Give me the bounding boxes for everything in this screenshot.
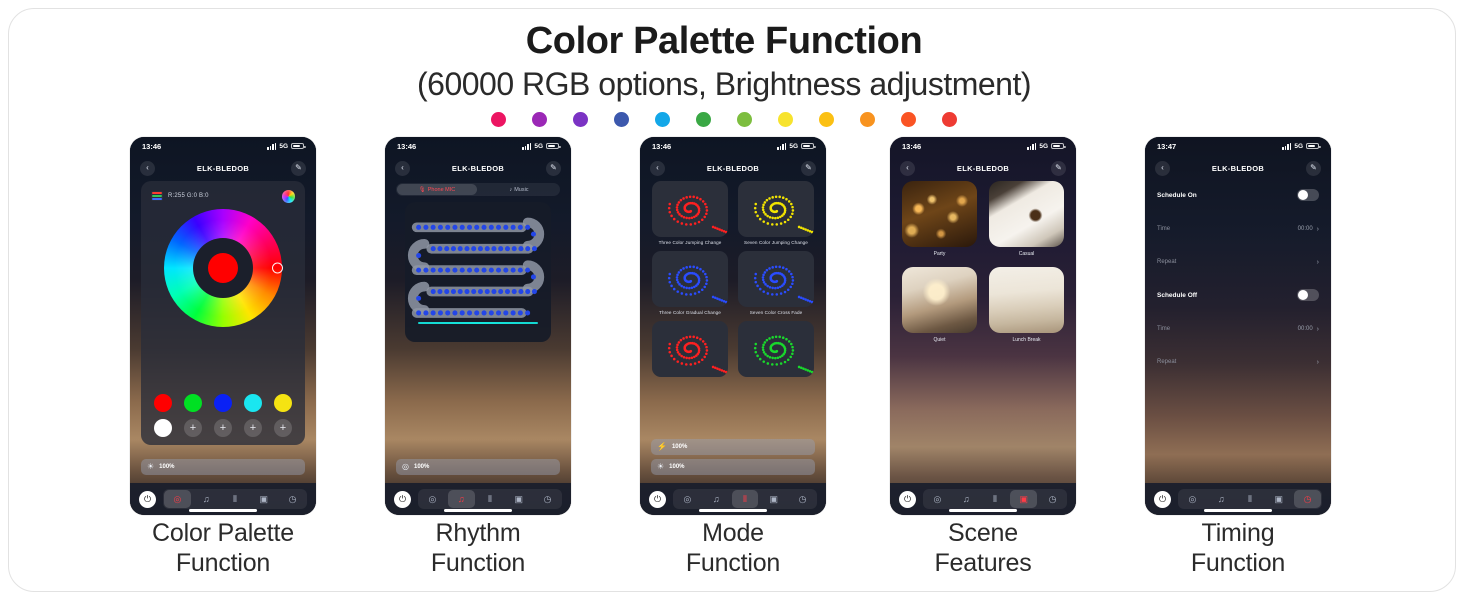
timing-row[interactable]: Schedule Off [1145,281,1331,309]
power-button[interactable]: ⏻ [139,491,156,508]
segment-phone-mic[interactable]: 🎙 Phone MIC [397,184,477,195]
row-label: Repeat [1157,359,1176,365]
phone-scene: 13:46 5G ‹ ELK-BLEDOB ✎ Party Casual Qui… [890,137,1076,515]
chevron-right-icon: › [1317,326,1319,333]
tab-palette[interactable]: ◎ [164,490,191,508]
phone-timing: 13:47 5G ‹ ELK-BLEDOB ✎ Schedule On Time… [1145,137,1331,515]
color-dot-7 [778,112,793,127]
tab-strip: ◎♫⦀▣◷ [418,489,562,509]
color-wheel-wrap [141,207,305,329]
color-dot-11 [942,112,957,127]
tab-music[interactable]: ♫ [193,490,220,508]
network-label: 5G [789,143,798,150]
mode-grid: Three Color Jumping Change Seven Color J… [652,181,814,380]
status-time: 13:46 [397,142,416,151]
mode-cell[interactable]: Three Color Jumping Change [652,181,728,245]
caption-line-1: Scene [868,518,1098,548]
color-dot-4 [655,112,670,127]
phone-screen: 13:46 5G ‹ ELK-BLEDOB ✎ R:255 G:0 B:0 [130,137,316,515]
led-strip-preview [405,202,551,342]
mode-thumbnail [738,321,814,377]
speed-slider[interactable]: ⚡ 100% [651,439,815,455]
caption-line-2: Function [1123,548,1353,578]
tab-timer[interactable]: ◷ [1294,490,1321,508]
page-root: Color Palette Function (60000 RGB option… [0,0,1464,600]
mode-cell[interactable]: Seven Color Jumping Change [738,181,814,245]
row-label: Repeat [1157,259,1176,265]
home-indicator [1204,509,1272,512]
color-dot-3 [614,112,629,127]
caption-line-2: Function [618,548,848,578]
back-button[interactable]: ‹ [900,161,915,176]
network-label: 5G [534,143,543,150]
tab-timer[interactable]: ◷ [534,490,561,508]
segment-music[interactable]: ♪ Music [479,184,559,195]
caption-line-2: Features [868,548,1098,578]
edit-button[interactable]: ✎ [1306,161,1321,176]
tab-timer[interactable]: ◷ [789,490,816,508]
caption-scene: Scene Features [868,518,1098,578]
spiral-icon-1 [738,181,814,237]
scene-cell[interactable]: Lunch Break [989,267,1064,343]
segment-icon: 🎙 [419,187,426,193]
battery-icon [801,143,814,150]
status-time: 13:46 [652,142,671,151]
caption-line-1: Mode [618,518,848,548]
battery-icon [1051,143,1064,150]
battery-icon [291,143,304,150]
mode-label: Seven Color Cross Fade [750,310,803,315]
brightness-icon: ☀ [147,463,154,471]
app-navbar: ‹ ELK-BLEDOB ✎ [385,157,571,179]
tab-mode[interactable]: ⦀ [1237,490,1264,508]
network-label: 5G [1039,143,1048,150]
preset-color-yellow[interactable] [274,394,292,412]
scene-cell[interactable]: Party [902,181,977,257]
tab-music[interactable]: ♫ [448,490,475,508]
color-dot-9 [860,112,875,127]
device-name: ELK-BLEDOB [452,164,504,173]
phone-screen: 13:46 5G ‹ ELK-BLEDOB ✎ 🎙 Phone MIC ♪ Mu… [385,137,571,515]
scene-grid: Party Casual Quiet Lunch Break [902,181,1064,343]
tab-music[interactable]: ♫ [703,490,730,508]
spiral-icon-4 [652,321,728,377]
scene-thumbnail [989,267,1064,333]
tab-mode[interactable]: ⦀ [732,490,759,508]
row-label: Schedule Off [1157,292,1197,299]
edit-button[interactable]: ✎ [1051,161,1066,176]
scene-label: Quiet [934,337,946,343]
phone-color-palette: 13:46 5G ‹ ELK-BLEDOB ✎ R:255 G:0 B:0 [130,137,316,515]
phone-screen: 13:46 5G ‹ ELK-BLEDOB ✎ Three Color Jump… [640,137,826,515]
signal-icon [267,143,276,150]
color-dot-10 [901,112,916,127]
home-indicator [949,509,1017,512]
tab-palette[interactable]: ◎ [1179,490,1206,508]
signal-icon [1282,143,1291,150]
device-name: ELK-BLEDOB [957,164,1009,173]
phone-screen: 13:47 5G ‹ ELK-BLEDOB ✎ Schedule On Time… [1145,137,1331,515]
phone-rhythm: 13:46 5G ‹ ELK-BLEDOB ✎ 🎙 Phone MIC ♪ Mu… [385,137,571,515]
back-button[interactable]: ‹ [1155,161,1170,176]
color-dot-0 [491,112,506,127]
tab-scene[interactable]: ▣ [1265,490,1292,508]
toggle-schedule-on[interactable] [1297,189,1319,201]
mode-label: Three Color Gradual Change [659,310,721,315]
tab-palette[interactable]: ◎ [674,490,701,508]
add-preset-button-4[interactable]: + [274,419,292,437]
app-navbar: ‹ ELK-BLEDOB ✎ [640,157,826,179]
sensitivity-slider-value: 100% [414,464,429,470]
rgb-readout-row: R:255 G:0 B:0 [151,189,295,203]
caption-line-1: Color Palette [108,518,338,548]
row-label: Schedule On [1157,192,1197,199]
brightness-slider[interactable]: ☀ 100% [141,459,305,475]
power-button[interactable]: ⏻ [1154,491,1171,508]
battery-icon [546,143,559,150]
tab-strip: ◎♫⦀▣◷ [163,489,307,509]
power-button[interactable]: ⏻ [899,491,916,508]
caption-mode: Mode Function [618,518,848,578]
mic-sensitivity-icon: ◎ [402,463,409,471]
back-button[interactable]: ‹ [140,161,155,176]
power-button[interactable]: ⏻ [394,491,411,508]
scene-label: Lunch Break [1012,337,1040,343]
spiral-icon-0 [652,181,728,237]
brightness-slider-value: 100% [159,464,174,470]
signal-icon [777,143,786,150]
mode-thumbnail [738,181,814,237]
audio-level-line [418,322,538,324]
scene-label: Casual [1019,251,1035,257]
signal-icon [522,143,531,150]
preset-color-green[interactable] [184,394,202,412]
preset-color-cyan[interactable] [244,394,262,412]
led-strip-graphic [405,202,551,324]
phone-screen: 13:46 5G ‹ ELK-BLEDOB ✎ Party Casual Qui… [890,137,1076,515]
row-label: Time [1157,226,1170,232]
palette-panel: R:255 G:0 B:0 ++++ [141,181,305,445]
segment-icon: ♪ [509,187,512,193]
edit-button[interactable]: ✎ [291,161,306,176]
mode-label: Three Color Jumping Change [659,240,722,245]
tab-strip: ◎♫⦀▣◷ [923,489,1067,509]
preset-grid: ++++ [151,394,295,437]
status-bar: 13:47 5G [1145,137,1331,155]
caption-line-1: Timing [1123,518,1353,548]
tab-scene[interactable]: ▣ [505,490,532,508]
bottom-tabbar: ⏻ ◎♫⦀▣◷ [890,483,1076,515]
color-dot-2 [573,112,588,127]
edit-button[interactable]: ✎ [801,161,816,176]
sensitivity-slider[interactable]: ◎ 100% [396,459,560,475]
caption-line-1: Rhythm [363,518,593,548]
status-time: 13:46 [902,142,921,151]
status-bar: 13:46 5G [640,137,826,155]
scene-cell[interactable]: Casual [989,181,1064,257]
scene-thumbnail [902,181,977,247]
rgb-swatch-icon [151,191,163,201]
caption-color-palette: Color Palette Function [108,518,338,578]
tab-mode[interactable]: ⦀ [982,490,1009,508]
caption-timing: Timing Function [1123,518,1353,578]
mode-cell[interactable] [652,321,728,380]
color-dot-6 [737,112,752,127]
mode-thumbnail [652,321,728,377]
add-preset-button-1[interactable]: + [184,419,202,437]
mode-label: Seven Color Jumping Change [744,240,808,245]
color-dot-8 [819,112,834,127]
phone-mode: 13:46 5G ‹ ELK-BLEDOB ✎ Three Color Jump… [640,137,826,515]
page-title: Color Palette Function [0,18,1448,64]
bottom-tabbar: ⏻ ◎♫⦀▣◷ [640,483,826,515]
row-value: 00:00› [1298,226,1319,233]
bottom-tabbar: ⏻ ◎♫⦀▣◷ [385,483,571,515]
bottom-tabbar: ⏻ ◎♫⦀▣◷ [1145,483,1331,515]
caption-line-2: Function [108,548,338,578]
preset-color-red[interactable] [154,394,172,412]
back-button[interactable]: ‹ [395,161,410,176]
chevron-right-icon: › [1317,259,1319,266]
color-dots-row [0,112,1448,127]
add-preset-button-3[interactable]: + [244,419,262,437]
row-value: › [1317,259,1319,266]
timing-row[interactable]: Schedule On [1145,181,1331,209]
signal-icon [1027,143,1036,150]
status-bar: 13:46 5G [385,137,571,155]
rhythm-source-switch: 🎙 Phone MIC ♪ Music [396,183,560,196]
tab-timer[interactable]: ◷ [279,490,306,508]
scene-label: Party [934,251,946,257]
color-wheel[interactable] [164,209,282,327]
tab-timer[interactable]: ◷ [1039,490,1066,508]
current-color-preview [208,253,238,283]
network-label: 5G [1294,143,1303,150]
tab-music[interactable]: ♫ [953,490,980,508]
brightness-slider-value: 100% [669,464,684,470]
page-subtitle: (60000 RGB options, Brightness adjustmen… [0,64,1448,104]
tab-scene[interactable]: ▣ [760,490,787,508]
status-time: 13:47 [1157,142,1176,151]
brightness-slider[interactable]: ☀ 100% [651,459,815,475]
battery-icon [1306,143,1319,150]
home-indicator [189,509,257,512]
tab-strip: ◎♫⦀▣◷ [1178,489,1322,509]
tab-scene[interactable]: ▣ [1010,490,1037,508]
device-name: ELK-BLEDOB [197,164,249,173]
preset-color-white[interactable] [154,419,172,437]
color-wheel-hole [193,238,253,298]
status-time: 13:46 [142,142,161,151]
color-wheel-handle[interactable] [272,263,283,274]
add-preset-button-2[interactable]: + [214,419,232,437]
tab-palette[interactable]: ◎ [419,490,446,508]
segment-label: Phone MIC [428,187,456,193]
color-dot-5 [696,112,711,127]
app-navbar: ‹ ELK-BLEDOB ✎ [1145,157,1331,179]
spiral-icon-5 [738,321,814,377]
tab-strip: ◎♫⦀▣◷ [673,489,817,509]
header: Color Palette Function (60000 RGB option… [0,18,1448,104]
caption-rhythm: Rhythm Function [363,518,593,578]
brightness-icon: ☀ [657,463,664,471]
toggle-schedule-off[interactable] [1297,289,1319,301]
scene-thumbnail [989,181,1064,247]
tab-music[interactable]: ♫ [1208,490,1235,508]
timing-row[interactable]: Time 00:00› [1145,215,1331,243]
network-label: 5G [279,143,288,150]
app-navbar: ‹ ELK-BLEDOB ✎ [130,157,316,179]
status-bar: 13:46 5G [890,137,1076,155]
mode-thumbnail [652,181,728,237]
preset-color-blue[interactable] [214,394,232,412]
device-name: ELK-BLEDOB [1212,164,1264,173]
rgb-value: R:255 G:0 B:0 [168,193,209,199]
home-indicator [444,509,512,512]
mode-cell[interactable] [738,321,814,380]
timing-row[interactable]: Repeat › [1145,348,1331,376]
spiral-icon-3 [738,251,814,307]
tab-mode[interactable]: ⦀ [477,490,504,508]
home-indicator [699,509,767,512]
spiral-icon-2 [652,251,728,307]
scene-thumbnail [902,267,977,333]
scene-cell[interactable]: Quiet [902,267,977,343]
chevron-right-icon: › [1317,359,1319,366]
bottom-tabbar: ⏻ ◎♫⦀▣◷ [130,483,316,515]
speed-icon: ⚡ [657,443,667,451]
mode-cell[interactable]: Seven Color Cross Fade [738,251,814,315]
edit-button[interactable]: ✎ [546,161,561,176]
status-bar: 13:46 5G [130,137,316,155]
caption-line-2: Function [363,548,593,578]
tab-palette[interactable]: ◎ [924,490,951,508]
back-button[interactable]: ‹ [650,161,665,176]
row-value: 00:00› [1298,326,1319,333]
chevron-right-icon: › [1317,226,1319,233]
tab-scene[interactable]: ▣ [250,490,277,508]
power-button[interactable]: ⏻ [649,491,666,508]
row-value: › [1317,359,1319,366]
timing-row[interactable]: Repeat › [1145,248,1331,276]
color-dot-1 [532,112,547,127]
speed-slider-value: 100% [672,444,687,450]
mode-thumbnail [738,251,814,307]
device-name: ELK-BLEDOB [707,164,759,173]
tab-mode[interactable]: ⦀ [222,490,249,508]
segment-label: Music [514,187,528,193]
mode-cell[interactable]: Three Color Gradual Change [652,251,728,315]
color-mode-icon[interactable] [282,190,295,203]
timing-row[interactable]: Time 00:00› [1145,315,1331,343]
mode-thumbnail [652,251,728,307]
app-navbar: ‹ ELK-BLEDOB ✎ [890,157,1076,179]
row-label: Time [1157,326,1170,332]
